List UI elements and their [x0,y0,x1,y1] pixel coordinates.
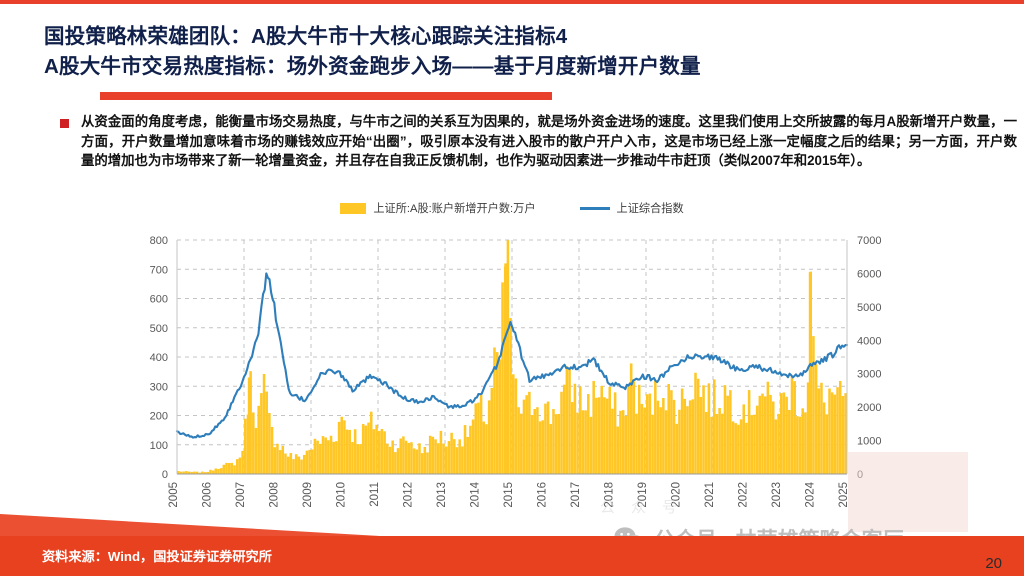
svg-text:2011: 2011 [369,482,381,507]
source-note: 资料来源：Wind，国投证券证券研究所 [42,546,272,565]
svg-text:2007: 2007 [235,482,247,508]
svg-text:2020: 2020 [671,482,683,508]
chart-container: 上证所:A股:账户新增开户数:万户 上证综合指数 010020030040050… [122,196,902,526]
svg-text:700: 700 [150,264,168,276]
combo-chart-svg: 0100200300400500600700800 01000200030004… [122,230,902,526]
slide-title-block: 国投策略林荣雄团队：A股大牛市十大核心跟踪关注指标4 A股大牛市交易热度指标：场… [44,22,1016,82]
svg-text:400: 400 [150,352,168,364]
svg-text:0: 0 [162,469,168,481]
svg-text:2009: 2009 [302,482,314,508]
svg-text:3000: 3000 [857,369,881,381]
page-title-line-2: A股大牛市交易热度指标：场外资金跑步入场——基于月度新增开户数量 [44,52,1016,82]
svg-text:2022: 2022 [738,482,750,508]
legend-label-line: 上证综合指数 [617,200,684,216]
legend-item-bars: 上证所:A股:账户新增开户数:万户 [340,200,535,216]
svg-text:300: 300 [150,381,168,393]
legend-swatch-bar-icon [340,203,366,214]
svg-text:4000: 4000 [857,335,881,347]
chart-left-axis-ticks: 0100200300400500600700800 [150,235,168,481]
svg-text:2012: 2012 [403,482,415,508]
chart-plot-area: 0100200300400500600700800 01000200030004… [122,230,902,526]
page-number: 20 [985,555,1002,572]
svg-text:2018: 2018 [604,482,616,508]
svg-text:2019: 2019 [637,482,649,508]
svg-text:800: 800 [150,235,168,247]
svg-text:2024: 2024 [805,481,817,507]
title-underline-bar [100,92,552,100]
svg-text:2013: 2013 [436,482,448,508]
page-title-line-1: 国投策略林荣雄团队：A股大牛市十大核心跟踪关注指标4 [44,22,1016,52]
chart-right-axis-ticks: 01000200030004000500060007000 [857,235,881,481]
chart-legend: 上证所:A股:账户新增开户数:万户 上证综合指数 [122,200,902,216]
body-paragraph: 从资金面的角度考虑，能衡量市场交易热度，与牛市之间的关系互为因果的，就是场外资金… [81,112,1017,171]
svg-text:1000: 1000 [857,436,881,448]
svg-text:200: 200 [150,411,168,423]
svg-text:2016: 2016 [537,482,549,508]
svg-text:2008: 2008 [269,482,281,508]
legend-item-line: 上证综合指数 [580,200,684,216]
body-bullet-row: 从资金面的角度考虑，能衡量市场交易热度，与牛市之间的关系互为因果的，就是场外资金… [60,112,1018,171]
svg-text:5000: 5000 [857,302,881,314]
square-bullet-icon [60,119,69,128]
top-accent-rule [0,0,1024,4]
svg-text:2006: 2006 [202,482,214,508]
svg-text:2017: 2017 [570,482,582,508]
svg-text:2023: 2023 [771,482,783,508]
svg-text:2014: 2014 [470,481,482,507]
svg-text:2021: 2021 [704,482,716,508]
legend-label-bars: 上证所:A股:账户新增开户数:万户 [373,200,535,216]
svg-text:2000: 2000 [857,402,881,414]
svg-text:0: 0 [857,469,863,481]
svg-text:2005: 2005 [168,482,180,508]
svg-text:6000: 6000 [857,268,881,280]
svg-text:7000: 7000 [857,235,881,247]
svg-text:500: 500 [150,323,168,335]
svg-text:100: 100 [150,440,168,452]
legend-swatch-line-icon [580,207,610,210]
svg-text:2010: 2010 [336,482,348,508]
svg-text:600: 600 [150,294,168,306]
chart-x-axis-ticks: 2005200620072008200920102011201220132014… [168,481,850,507]
svg-text:2025: 2025 [838,482,850,508]
svg-text:2015: 2015 [503,482,515,508]
